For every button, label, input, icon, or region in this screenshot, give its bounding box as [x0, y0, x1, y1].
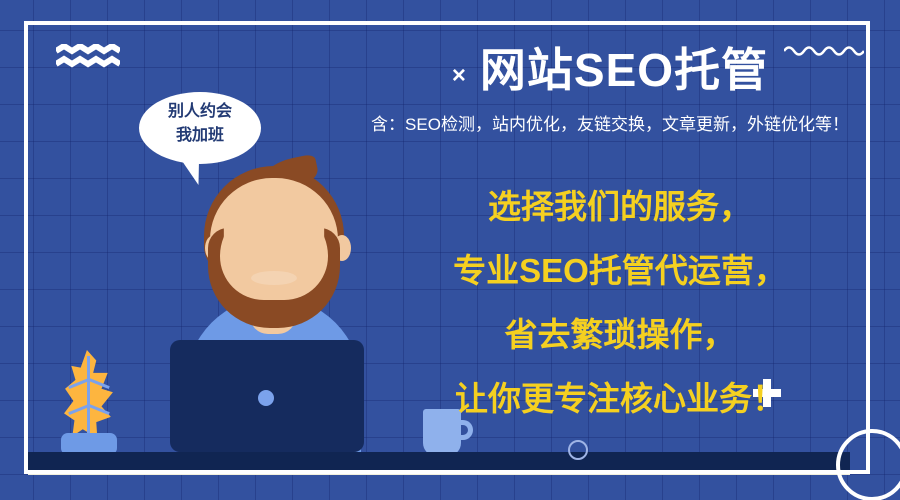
headline-line-4: 让你更专注核心业务！	[400, 382, 840, 415]
headline-line-1: 选择我们的服务，	[400, 190, 840, 223]
speech-bubble-line-2: 我加班	[139, 124, 261, 148]
speech-bubble-text: 别人约会 我加班	[139, 100, 261, 148]
corner-circle-outline-icon	[836, 429, 900, 500]
headline-line-2: 专业SEO托管代运营，	[400, 254, 840, 287]
seo-promo-poster: 别人约会 我加班 × 网站SEO托管 含：SEO检测，站内优化，友链交换，文章更…	[0, 0, 900, 500]
headline-line-3: 省去繁琐操作，	[400, 318, 840, 351]
speech-bubble-line-1: 别人约会	[139, 100, 261, 124]
